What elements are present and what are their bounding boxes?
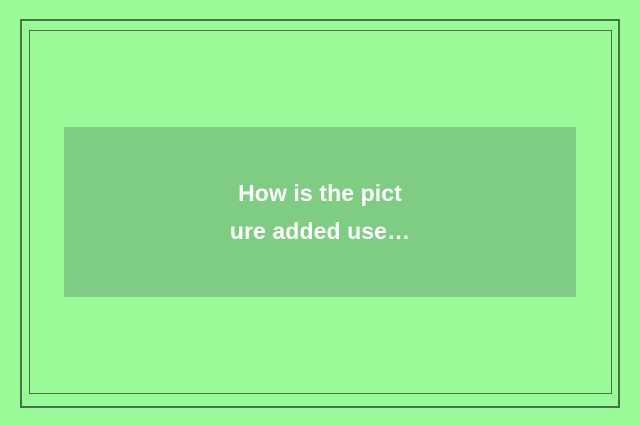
panel-text: How is the pict ure added use…: [230, 174, 410, 250]
text-panel: How is the pict ure added use…: [64, 127, 576, 297]
screenshot-canvas: How is the pict ure added use…: [0, 0, 640, 425]
